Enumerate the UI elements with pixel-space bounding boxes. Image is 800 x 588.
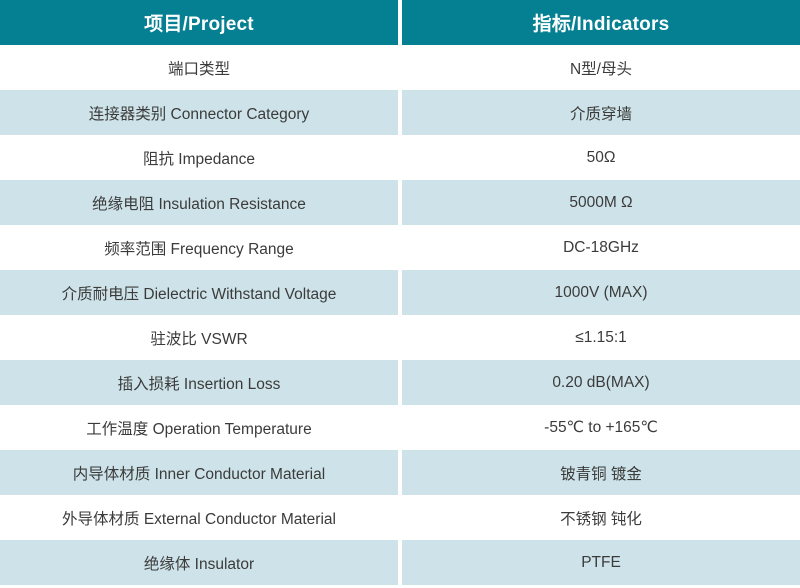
cell-indicator: 50Ω: [402, 135, 800, 180]
cell-project: 阻抗 Impedance: [0, 135, 398, 180]
table-row: 端口类型 N型/母头: [0, 45, 800, 90]
column-header-indicators: 指标/Indicators: [402, 0, 800, 45]
table-header-row: 项目/Project 指标/Indicators: [0, 0, 800, 45]
cell-project: 工作温度 Operation Temperature: [0, 405, 398, 450]
cell-project: 介质耐电压 Dielectric Withstand Voltage: [0, 270, 398, 315]
column-header-project: 项目/Project: [0, 0, 398, 45]
table-row: 阻抗 Impedance 50Ω: [0, 135, 800, 180]
cell-indicator: 5000M Ω: [402, 180, 800, 225]
table-row: 绝缘电阻 Insulation Resistance 5000M Ω: [0, 180, 800, 225]
cell-indicator: -55℃ to +165℃: [402, 405, 800, 450]
table-row: 插入损耗 Insertion Loss 0.20 dB(MAX): [0, 360, 800, 405]
cell-indicator: 介质穿墙: [402, 90, 800, 135]
table-row: 驻波比 VSWR ≤1.15:1: [0, 315, 800, 360]
table-row: 工作温度 Operation Temperature -55℃ to +165℃: [0, 405, 800, 450]
specification-table: 项目/Project 指标/Indicators 端口类型 N型/母头 连接器类…: [0, 0, 800, 585]
table-row: 绝缘体 Insulator PTFE: [0, 540, 800, 585]
cell-indicator: ≤1.15:1: [402, 315, 800, 360]
cell-indicator: 0.20 dB(MAX): [402, 360, 800, 405]
table-row: 介质耐电压 Dielectric Withstand Voltage 1000V…: [0, 270, 800, 315]
table-row: 外导体材质 External Conductor Material 不锈钢 钝化: [0, 495, 800, 540]
cell-project: 插入损耗 Insertion Loss: [0, 360, 398, 405]
cell-project: 外导体材质 External Conductor Material: [0, 495, 398, 540]
table-row: 内导体材质 Inner Conductor Material 铍青铜 镀金: [0, 450, 800, 495]
cell-project: 连接器类别 Connector Category: [0, 90, 398, 135]
cell-project: 端口类型: [0, 45, 398, 90]
cell-indicator: N型/母头: [402, 45, 800, 90]
table-row: 频率范围 Frequency Range DC-18GHz: [0, 225, 800, 270]
cell-project: 绝缘电阻 Insulation Resistance: [0, 180, 398, 225]
cell-project: 绝缘体 Insulator: [0, 540, 398, 585]
cell-project: 频率范围 Frequency Range: [0, 225, 398, 270]
cell-project: 内导体材质 Inner Conductor Material: [0, 450, 398, 495]
cell-indicator: DC-18GHz: [402, 225, 800, 270]
cell-project: 驻波比 VSWR: [0, 315, 398, 360]
cell-indicator: 不锈钢 钝化: [402, 495, 800, 540]
cell-indicator: 1000V (MAX): [402, 270, 800, 315]
cell-indicator: PTFE: [402, 540, 800, 585]
table-row: 连接器类别 Connector Category 介质穿墙: [0, 90, 800, 135]
cell-indicator: 铍青铜 镀金: [402, 450, 800, 495]
